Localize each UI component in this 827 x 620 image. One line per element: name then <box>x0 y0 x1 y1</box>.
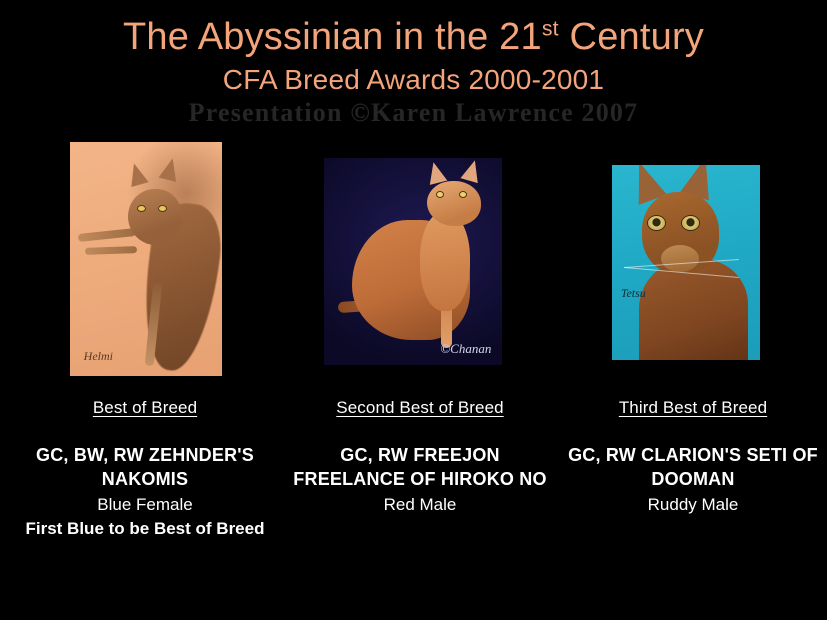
cat-eye-shape <box>648 216 665 230</box>
cat-name: GC, RW CLARION'S SETI OF DOOMAN <box>566 418 820 492</box>
photographer-signature: Helmi <box>84 349 113 364</box>
rank-heading: Second Best of Breed <box>336 398 503 418</box>
cat-description: Ruddy Male <box>566 492 820 517</box>
cat-eye-shape <box>682 216 699 230</box>
cat-ear-shape <box>460 158 483 183</box>
award-column-third-best-of-breed: Third Best of Breed GC, RW CLARION'S SET… <box>566 398 820 516</box>
cat-foreleg-shape <box>77 228 135 242</box>
page-title-main: The Abyssinian in the 21 <box>123 16 542 58</box>
award-column-second-best-of-breed: Second Best of Breed GC, RW FREEJON FREE… <box>293 398 547 516</box>
photographer-signature: ©Chanan <box>440 341 491 357</box>
presentation-slide: The Abyssinian in the 21st Century CFA B… <box>0 0 827 620</box>
cat-note: First Blue to be Best of Breed <box>18 516 272 541</box>
slide-header: The Abyssinian in the 21st Century CFA B… <box>0 0 827 128</box>
page-subtitle: CFA Breed Awards 2000-2001 <box>0 58 827 96</box>
rank-heading: Third Best of Breed <box>619 398 767 418</box>
cat-ear-shape <box>125 161 148 187</box>
award-column-best-of-breed: Best of Breed GC, BW, RW ZEHNDER'S NAKOM… <box>18 398 272 541</box>
cat-name: GC, BW, RW ZEHNDER'S NAKOMIS <box>18 418 272 492</box>
page-title-tail: Century <box>559 16 704 58</box>
blue-abyssinian-photo: Helmi <box>70 142 222 376</box>
page-title: The Abyssinian in the 21st Century <box>0 0 827 58</box>
ruddy-abyssinian-photo: Tetsu <box>612 165 760 360</box>
page-title-ordinal-suffix: st <box>542 16 559 40</box>
photographer-signature: Tetsu <box>621 286 646 301</box>
rank-heading: Best of Breed <box>93 398 197 418</box>
cat-head-shape <box>128 189 183 245</box>
presentation-credit-watermark: Presentation ©Karen Lawrence 2007 <box>0 96 827 128</box>
cat-name: GC, RW FREEJON FREELANCE OF HIROKO NO <box>293 418 547 492</box>
cat-ear-shape <box>159 157 182 183</box>
cat-description: Red Male <box>293 492 547 517</box>
red-abyssinian-photo: ©Chanan <box>324 158 502 365</box>
cat-chest-shape <box>420 212 470 311</box>
cat-head-shape <box>427 181 480 227</box>
cat-foreleg-shape <box>85 246 137 255</box>
cat-description: Blue Female <box>18 492 272 517</box>
